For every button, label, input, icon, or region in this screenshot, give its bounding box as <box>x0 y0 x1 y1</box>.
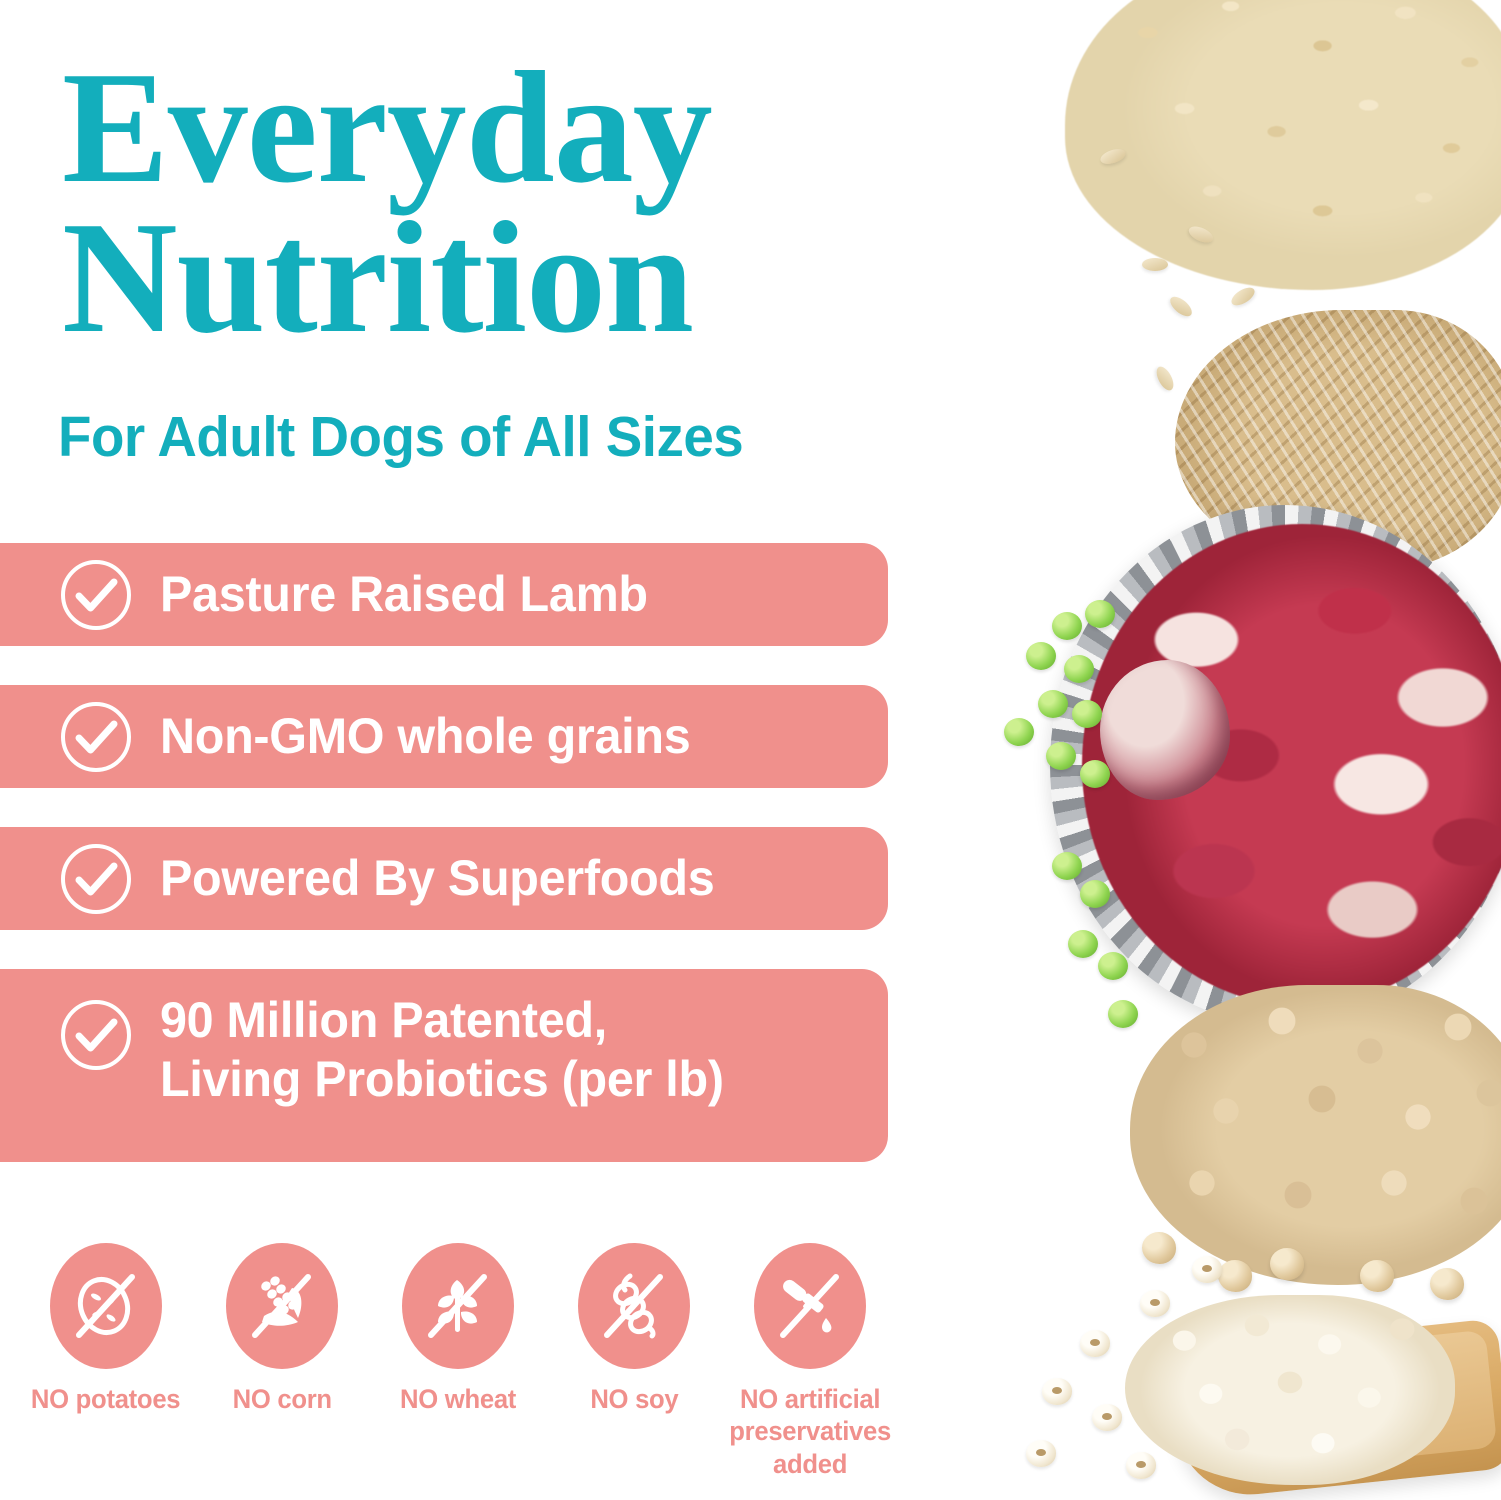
no-wheat-icon <box>402 1243 514 1369</box>
rolled-oats-photo <box>1065 0 1501 290</box>
chickpeas-photo <box>1130 985 1501 1285</box>
subheadline: For Adult Dogs of All Sizes <box>58 404 903 470</box>
free-from-badges: NO potatoes <box>18 1243 918 1480</box>
chickpeas-photo <box>1218 1260 1252 1292</box>
green-peas-photo <box>1052 852 1082 880</box>
ingredient-photo-collage <box>930 0 1501 1500</box>
green-peas-photo <box>1108 1000 1138 1028</box>
barley-wooden-scoop-photo <box>1092 1404 1122 1431</box>
benefit-bar: Non-GMO whole grains <box>0 685 888 788</box>
benefit-bar: 90 Million Patented, Living Probiotics (… <box>0 969 888 1162</box>
barley-wooden-scoop-photo <box>1080 1330 1110 1357</box>
benefit-label: Pasture Raised Lamb <box>160 565 648 624</box>
barley-wooden-scoop-photo <box>1042 1378 1072 1405</box>
benefit-label: Non-GMO whole grains <box>160 707 690 766</box>
green-peas-photo <box>1052 612 1082 640</box>
benefit-bar: Powered By Superfoods <box>0 827 888 930</box>
free-from-label: NO artificial preservatives added <box>729 1383 891 1480</box>
check-circle-icon <box>58 557 134 633</box>
green-peas-photo <box>1098 952 1128 980</box>
barley-wooden-scoop-photo <box>1140 1290 1170 1317</box>
no-corn-icon <box>226 1243 338 1369</box>
barley-wooden-scoop-photo <box>1192 1256 1222 1283</box>
page-title: Everyday Nutrition <box>62 52 922 353</box>
barley-wooden-scoop-photo <box>1026 1440 1056 1467</box>
no-preservatives-icon <box>754 1243 866 1369</box>
benefit-bar: Pasture Raised Lamb <box>0 543 888 646</box>
free-from-badge: NO artificial preservatives added <box>722 1243 898 1480</box>
benefits-list: Pasture Raised Lamb Non-GMO whole grains… <box>0 543 890 1201</box>
no-potato-icon <box>50 1243 162 1369</box>
green-peas-photo <box>1085 600 1115 628</box>
rolled-oats-photo <box>1142 258 1168 271</box>
green-peas-photo <box>1064 655 1094 683</box>
chickpeas-photo <box>1270 1248 1304 1280</box>
green-peas-photo <box>1068 930 1098 958</box>
green-peas-photo <box>1072 700 1102 728</box>
chickpeas-photo <box>1360 1260 1394 1292</box>
barley-wooden-scoop-photo <box>1126 1452 1156 1479</box>
barley-wooden-scoop-photo <box>1125 1295 1455 1485</box>
rolled-oats-photo <box>1229 284 1258 309</box>
free-from-label: NO soy <box>590 1383 678 1415</box>
free-from-label: NO corn <box>232 1383 331 1415</box>
green-peas-photo <box>1038 690 1068 718</box>
check-circle-icon <box>58 841 134 917</box>
benefit-label: Powered By Superfoods <box>160 849 714 908</box>
no-soy-icon <box>578 1243 690 1369</box>
green-peas-photo <box>1046 742 1076 770</box>
benefit-label: 90 Million Patented, Living Probiotics (… <box>160 991 724 1109</box>
check-circle-icon <box>58 997 134 1073</box>
free-from-badge: NO soy <box>546 1243 722 1415</box>
green-peas-photo <box>1080 880 1110 908</box>
product-feature-graphic: Everyday Nutrition For Adult Dogs of All… <box>0 0 1501 1500</box>
green-peas-photo <box>1004 718 1034 746</box>
free-from-badge: NO wheat <box>370 1243 546 1415</box>
chickpeas-photo <box>1430 1268 1464 1300</box>
lamb-in-metal-bowl-photo <box>1100 660 1230 800</box>
green-peas-photo <box>1026 642 1056 670</box>
rolled-oats-photo <box>1153 364 1177 393</box>
free-from-badge: NO potatoes <box>18 1243 194 1415</box>
free-from-label: NO wheat <box>400 1383 516 1415</box>
rolled-oats-photo <box>1167 293 1195 320</box>
free-from-badge: NO corn <box>194 1243 370 1415</box>
free-from-label: NO potatoes <box>31 1383 180 1415</box>
headline-line-2: Nutrition <box>62 202 922 352</box>
green-peas-photo <box>1080 760 1110 788</box>
chickpeas-photo <box>1142 1232 1176 1264</box>
check-circle-icon <box>58 699 134 775</box>
